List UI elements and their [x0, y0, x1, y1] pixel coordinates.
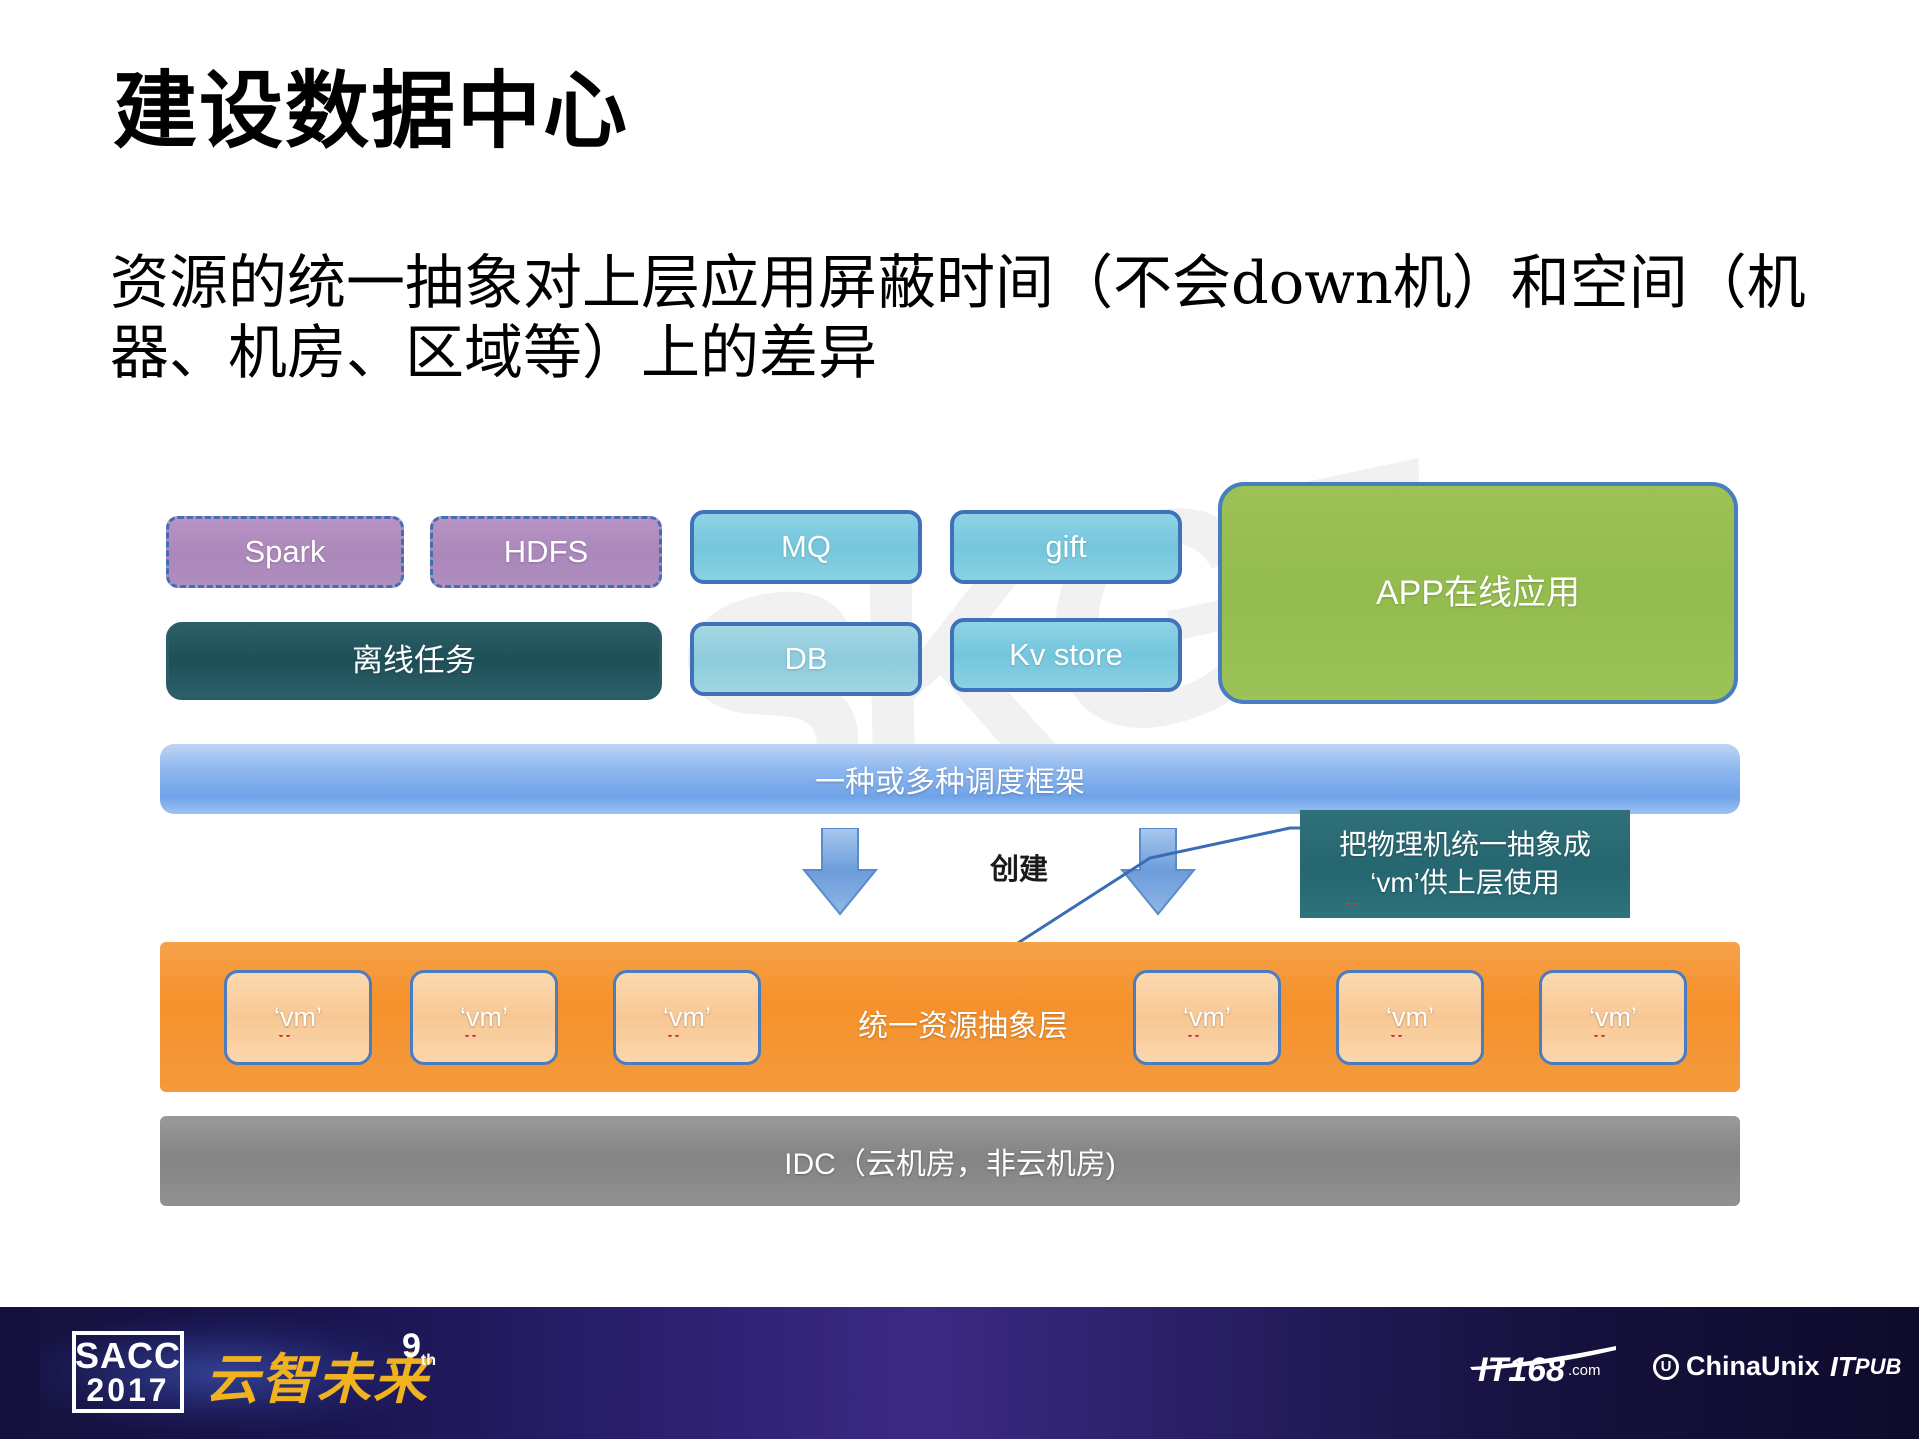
callout-box: 把物理机统一抽象成 ‘vm’供上层使用: [1300, 810, 1630, 918]
vm-box: ‘vm’: [1133, 970, 1281, 1065]
workload-box-kv-store: Kv store: [950, 618, 1182, 692]
idc-bar: IDC（云机房，非云机房): [160, 1116, 1740, 1206]
slide: 建设数据中心 资源的统一抽象对上层应用屏蔽时间（不会down机）和空间（机器、机…: [0, 0, 1919, 1439]
architecture-diagram: Spark HDFS MQ gift 离线任务 DB Kv store APP在…: [0, 0, 1919, 1439]
sacc-edition-suffix: th: [421, 1352, 436, 1369]
sacc-logo: SACC 2017: [72, 1331, 184, 1413]
vm-label: ‘vm’: [663, 1002, 711, 1033]
callout-line-1: 把物理机统一抽象成: [1339, 826, 1591, 864]
workload-box-offline-tasks: 离线任务: [166, 622, 662, 700]
resource-abstraction-label: 统一资源抽象层: [858, 1001, 1068, 1045]
workload-box-mq: MQ: [690, 510, 922, 584]
workload-box-gift: gift: [950, 510, 1182, 584]
sacc-edition-number: 9: [402, 1327, 421, 1365]
brand-it168-dotcom: .com: [1568, 1362, 1601, 1379]
vm-box: ‘vm’: [613, 970, 761, 1065]
vm-box: ‘vm’: [1336, 970, 1484, 1065]
sacc-logo-line2: 2017: [86, 1374, 169, 1406]
workload-box-spark: Spark: [166, 516, 404, 588]
workload-label: Spark: [245, 533, 326, 572]
vm-label: ‘vm’: [1183, 1002, 1231, 1033]
workload-label: gift: [1045, 528, 1086, 567]
callout-line-2: ‘vm’供上层使用: [1339, 864, 1591, 902]
app-online-label: APP在线应用: [1376, 572, 1580, 615]
brand-it168-label: IT168: [1478, 1351, 1565, 1390]
idc-label: IDC（云机房，非云机房): [784, 1139, 1116, 1183]
vm-box: ‘vm’: [410, 970, 558, 1065]
vm-label: ‘vm’: [460, 1002, 508, 1033]
vm-label: ‘vm’: [1386, 1002, 1434, 1033]
vm-label: ‘vm’: [274, 1002, 322, 1033]
sacc-logo-line1: SACC: [75, 1338, 181, 1374]
down-arrow-left-icon: [800, 828, 880, 918]
brand-chinaunix-label: ChinaUnix: [1686, 1351, 1820, 1382]
brand-itpub-it: IT: [1830, 1351, 1855, 1383]
brand-itpub-pub: PUB: [1855, 1354, 1901, 1380]
footer-bar: SACC 2017 云智未来 9th IT168.com UChinaUnix …: [0, 1307, 1919, 1439]
workload-label: HDFS: [504, 533, 588, 572]
vm-box: ‘vm’: [1539, 970, 1687, 1065]
vm-box: ‘vm’: [224, 970, 372, 1065]
workload-label: MQ: [781, 528, 831, 567]
sacc-edition: 9th: [402, 1327, 436, 1370]
workload-label: Kv store: [1009, 636, 1123, 675]
sacc-slogan: 云智未来: [205, 1335, 429, 1414]
workload-box-hdfs: HDFS: [430, 516, 662, 588]
chinaunix-ring-icon: U: [1653, 1354, 1679, 1380]
vm-label: ‘vm’: [1589, 1002, 1637, 1033]
scheduler-framework-bar: 一种或多种调度框架: [160, 744, 1740, 814]
brand-itpub: ITPUB: [1830, 1351, 1901, 1383]
brand-it168: IT168.com: [1478, 1351, 1600, 1390]
app-online-box: APP在线应用: [1218, 482, 1738, 704]
workload-label: 离线任务: [352, 642, 476, 681]
brand-chinaunix: UChinaUnix: [1653, 1351, 1820, 1382]
workload-label: DB: [784, 640, 827, 679]
workload-box-db: DB: [690, 622, 922, 696]
scheduler-framework-label: 一种或多种调度框架: [815, 757, 1085, 801]
